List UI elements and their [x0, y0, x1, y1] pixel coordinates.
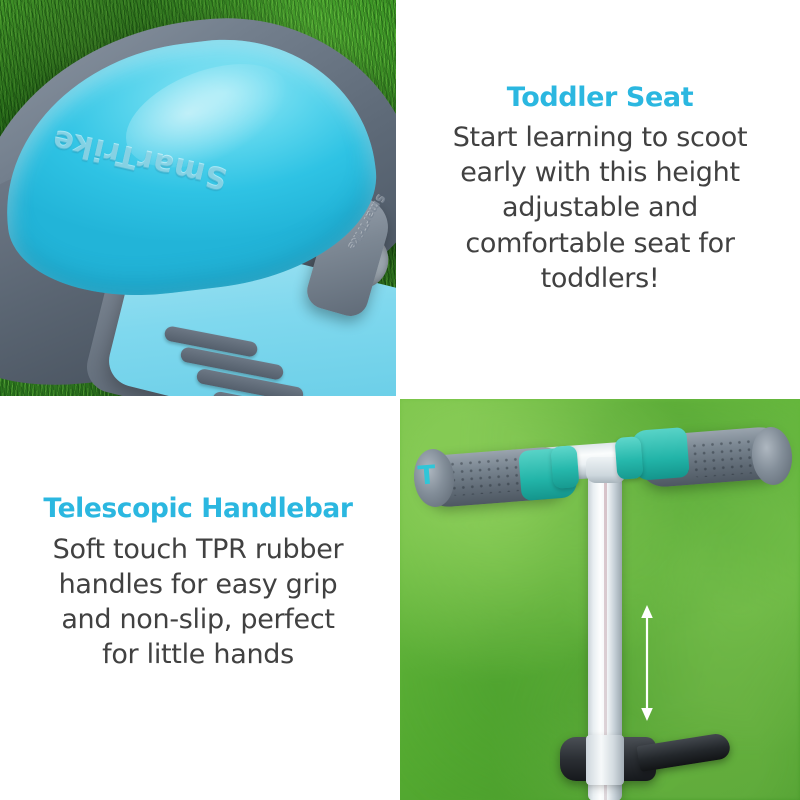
body-line: handles for easy grip [53, 567, 344, 602]
photo-toddler-seat: SmarTrike SmarTrike [0, 0, 396, 396]
body-line: and non-slip, perfect [53, 602, 344, 637]
product-feature-infographic: SmarTrike SmarTrike Toddler Seat Start l… [0, 0, 800, 800]
seat-photo-canvas: SmarTrike SmarTrike [0, 0, 396, 396]
handlebar-photo-canvas: T [400, 399, 800, 800]
body-line: comfortable seat for [453, 226, 748, 261]
body-line: toddlers! [453, 261, 748, 296]
teal-accent-ring-right [614, 436, 643, 480]
body-line: early with this height [453, 155, 748, 190]
feature-block-telescopic-handlebar: Telescopic Handlebar Soft touch TPR rubb… [0, 400, 396, 800]
feature-heading-telescopic-handlebar: Telescopic Handlebar [43, 494, 352, 524]
feature-body-telescopic-handlebar: Soft touch TPR rubber handles for easy g… [53, 532, 344, 672]
feature-heading-toddler-seat: Toddler Seat [507, 82, 693, 113]
photo-telescopic-handlebar: T [400, 399, 800, 800]
teal-accent-ring-left [550, 445, 579, 489]
stem-over-clamp [586, 735, 624, 785]
panel-divider-horizontal [0, 396, 800, 399]
feature-block-toddler-seat: Toddler Seat Start learning to scoot ear… [400, 0, 800, 396]
feature-body-toddler-seat: Start learning to scoot early with this … [453, 120, 748, 295]
panel-divider-vertical [396, 0, 400, 800]
body-line: Start learning to scoot [453, 120, 748, 155]
body-line: adjustable and [453, 190, 748, 225]
body-line: for little hands [53, 637, 344, 672]
height-adjust-arrow-icon [638, 605, 656, 721]
grip-cap-logo: T [417, 460, 435, 491]
body-line: Soft touch TPR rubber [53, 532, 344, 567]
